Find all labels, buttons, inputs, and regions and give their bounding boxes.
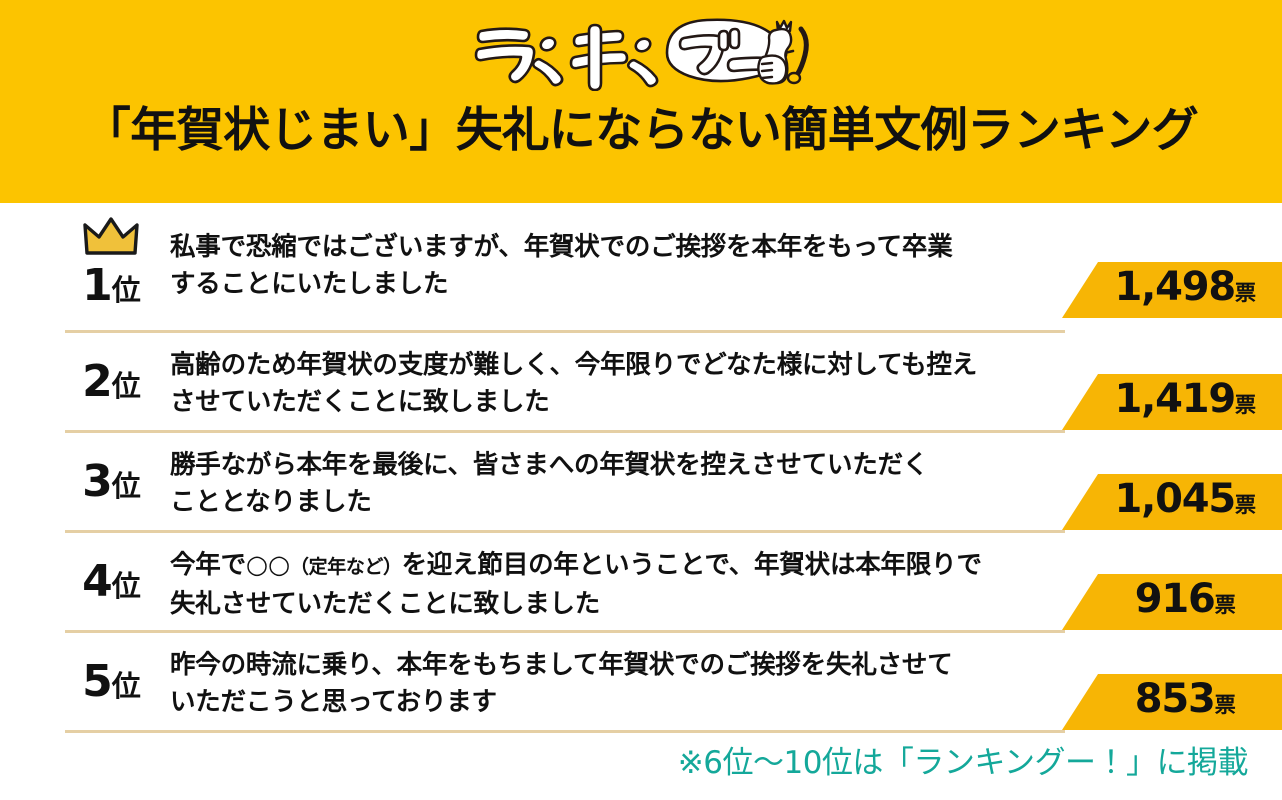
rank-text-line: 勝手ながら本年を最後に、皆さまへの年賀状を控えさせていただく (170, 447, 1070, 484)
ranking-row-5: 5位 昨今の時流に乗り、本年をもちまして年賀状でのご挨拶を失礼させて いただこう… (0, 633, 1282, 733)
rank-text-line: することにいたしました (170, 266, 1070, 303)
ranking-row-2: 2位 高齢のため年賀状の支度が難しく、今年限りでどなた様に対しても控え させてい… (0, 333, 1282, 433)
rank-number: 5 (82, 656, 112, 707)
rank-unit: 位 (112, 469, 140, 503)
rank-label-5: 5位 (55, 659, 167, 709)
rank-text-1: 私事で恐縮ではございますが、年賀状でのご挨拶を本年をもって卒業 することにいたし… (170, 229, 1070, 303)
rank-number: 2 (82, 356, 112, 407)
vote-unit: 票 (1215, 583, 1236, 627)
rank-label-1: 1位 (55, 263, 167, 313)
ranking-goo-logo (0, 14, 1282, 92)
rank-unit: 位 (112, 669, 140, 703)
ranking-row-4: 4位 今年で○○（定年など）を迎え節目の年ということで、年賀状は本年限りで 失礼… (0, 533, 1282, 633)
vote-badge-5: 853票 (1062, 674, 1282, 730)
infographic-page: 「年賀状じまい」失礼にならない簡単文例ランキング 1位 私事で恐縮ではございます… (0, 0, 1282, 800)
rank-number: 1 (82, 260, 112, 311)
crown-icon (55, 217, 167, 257)
rank-text-line: 私事で恐縮ではございますが、年賀状でのご挨拶を本年をもって卒業 (170, 229, 1070, 266)
vote-badge-3: 1,045票 (1062, 474, 1282, 530)
rank-text-line: させていただくことに致しました (170, 384, 1070, 421)
page-title: 「年賀状じまい」失礼にならない簡単文例ランキング (0, 101, 1282, 161)
vote-unit: 票 (1235, 483, 1256, 527)
rank-unit: 位 (112, 369, 140, 403)
vote-count: 1,045 (1114, 477, 1235, 521)
vote-count: 1,498 (1114, 265, 1235, 309)
rank-unit: 位 (112, 569, 140, 603)
rank-text-3: 勝手ながら本年を最後に、皆さまへの年賀状を控えさせていただく こととなりました (170, 447, 1070, 521)
footer-note: ※6位〜10位は「ランキングー！」に掲載 (678, 742, 1248, 784)
rank-label-4: 4位 (55, 559, 167, 609)
vote-badge-2: 1,419票 (1062, 374, 1282, 430)
rank-number: 4 (82, 556, 112, 607)
rank-label-2: 2位 (55, 359, 167, 409)
ranking-row-1: 1位 私事で恐縮ではございますが、年賀状でのご挨拶を本年をもって卒業 することに… (0, 203, 1282, 333)
rank-unit: 位 (112, 273, 140, 307)
vote-unit: 票 (1235, 271, 1256, 315)
vote-count: 853 (1135, 677, 1215, 721)
rank-number: 3 (82, 456, 112, 507)
vote-unit: 票 (1235, 383, 1256, 427)
vote-badge-1: 1,498票 (1062, 262, 1282, 318)
ranking-list: 1位 私事で恐縮ではございますが、年賀状でのご挨拶を本年をもって卒業 することに… (0, 203, 1282, 725)
vote-count: 1,419 (1114, 377, 1235, 421)
rank-text-line: 高齢のため年賀状の支度が難しく、今年限りでどなた様に対しても控え (170, 347, 1070, 384)
rank-text-5: 昨今の時流に乗り、本年をもちまして年賀状でのご挨拶を失礼させて いただこうと思っ… (170, 647, 1070, 721)
vote-badge-4: 916票 (1062, 574, 1282, 630)
rank-text-4: 今年で○○（定年など）を迎え節目の年ということで、年賀状は本年限りで 失礼させて… (170, 547, 1070, 623)
rank-text-line: こととなりました (170, 484, 1070, 521)
header-band: 「年賀状じまい」失礼にならない簡単文例ランキング (0, 0, 1282, 203)
row-divider (65, 730, 1065, 733)
rank-text-line: 昨今の時流に乗り、本年をもちまして年賀状でのご挨拶を失礼させて (170, 647, 1070, 684)
rank-text-line: 失礼させていただくことに致しました (170, 586, 1070, 623)
vote-unit: 票 (1215, 683, 1236, 727)
rank-label-3: 3位 (55, 459, 167, 509)
ranking-row-3: 3位 勝手ながら本年を最後に、皆さまへの年賀状を控えさせていただく こととなりま… (0, 433, 1282, 533)
rank-text-line: 今年で○○（定年など）を迎え節目の年ということで、年賀状は本年限りで (170, 547, 1070, 586)
rank-text-2: 高齢のため年賀状の支度が難しく、今年限りでどなた様に対しても控え させていただく… (170, 347, 1070, 421)
rank-text-line: いただこうと思っております (170, 684, 1070, 721)
vote-count: 916 (1135, 577, 1215, 621)
